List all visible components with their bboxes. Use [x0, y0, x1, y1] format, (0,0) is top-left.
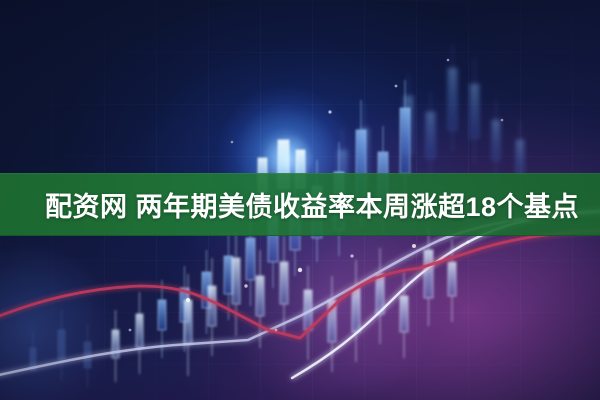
headline-text: 配资网 两年期美债收益率本周涨超18个基点: [45, 173, 579, 236]
headline-banner: 配资网 两年期美债收益率本周涨超18个基点: [0, 173, 600, 236]
banner-image: 配资网 两年期美债收益率本周涨超18个基点: [0, 0, 600, 400]
